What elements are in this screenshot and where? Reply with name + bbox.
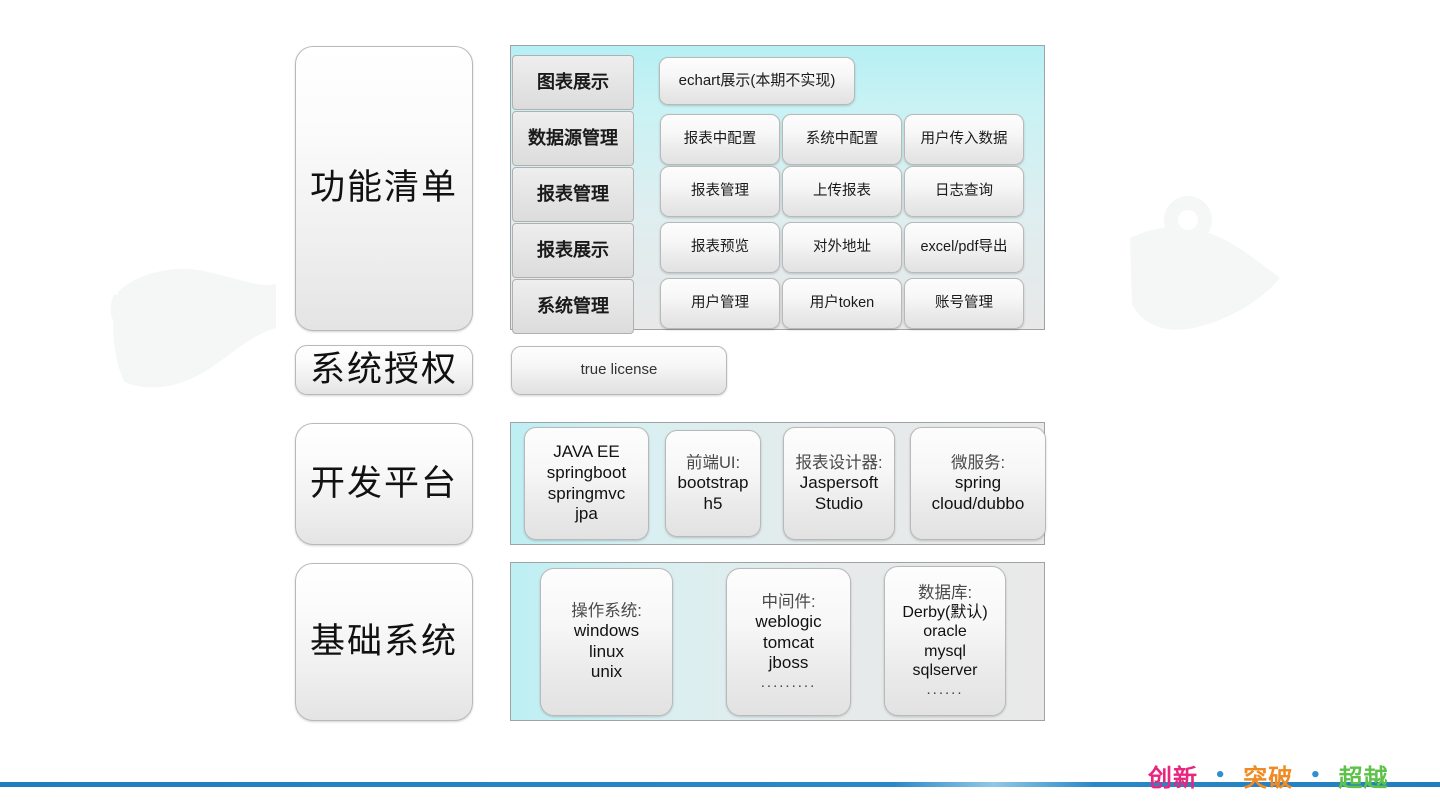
true-license-button[interactable]: true license [511,346,727,395]
dev-tile-designer-head: 报表设计器: [795,453,882,473]
cell-text: 日志查询 [935,183,993,201]
category-system-license-label: 系统授权 [310,349,458,392]
dev-tile-designer-line1: Jaspersoft [795,473,882,494]
row-label-text: 图表展示 [537,72,609,94]
base-tile-middleware[interactable]: 中间件: weblogic tomcat jboss ......... [726,568,851,716]
function-cell-account-manage[interactable]: 账号管理 [904,278,1024,329]
function-cell-log-query[interactable]: 日志查询 [904,166,1024,217]
footer-slogan: 创新 • 突破 • 超越 [1148,758,1388,793]
function-row-label-datasource[interactable]: 数据源管理 [512,111,634,166]
base-tile-mid-line3: jboss [755,653,821,674]
category-function-list-label: 功能清单 [310,167,458,210]
base-tile-mid-head: 中间件: [755,592,821,612]
function-row-label-reportview[interactable]: 报表展示 [512,223,634,278]
cell-text: 上传报表 [813,183,871,201]
row-label-text: 报表管理 [537,184,609,206]
background-watermark-left [108,232,298,412]
function-cell-upload-report[interactable]: 上传报表 [782,166,902,217]
function-cell-external-address[interactable]: 对外地址 [782,222,902,273]
function-cell-system-config[interactable]: 系统中配置 [782,114,902,165]
dev-tile-designer-line2: Studio [795,494,882,515]
base-tile-db-head: 数据库: [902,583,987,603]
category-dev-platform-label: 开发平台 [310,463,458,506]
function-cell-user-token[interactable]: 用户token [782,278,902,329]
cell-text: 对外地址 [813,239,871,257]
slogan-word-1: 创新 [1148,764,1198,792]
cell-text: 系统中配置 [806,131,879,149]
cell-text: 报表管理 [691,183,749,201]
base-tile-mid-line1: weblogic [755,612,821,633]
category-dev-platform: 开发平台 [295,423,473,545]
base-tile-db-line1: Derby(默认) [902,603,987,623]
base-tile-operating-system[interactable]: 操作系统: windows linux unix [540,568,673,716]
function-row-label-chart[interactable]: 图表展示 [512,55,634,110]
base-tile-db-dots: ...... [902,681,987,699]
dev-tile-micro-head: 微服务: [932,453,1025,473]
function-cell-echart[interactable]: echart展示(本期不实现) [659,57,855,105]
base-tile-os-line1: windows [571,621,642,642]
base-tile-mid-line2: tomcat [755,633,821,654]
background-watermark-right [1120,160,1320,345]
category-system-license: 系统授权 [295,345,473,395]
dev-tile-frontend-line1: bootstrap [678,473,749,494]
dev-tile-javaee-line3: jpa [547,504,626,525]
dev-tile-frontend-line2: h5 [678,494,749,515]
row-label-text: 数据源管理 [528,128,618,150]
cell-text: 用户传入数据 [921,131,1008,149]
dev-tile-microservice[interactable]: 微服务: spring cloud/dubbo [910,427,1046,540]
cell-text: 报表中配置 [684,131,757,149]
base-tile-db-line4: sqlserver [902,661,987,681]
dev-tile-micro-line1: spring [932,473,1025,494]
cell-text: 报表预览 [691,239,749,257]
base-tile-db-line3: mysql [902,642,987,662]
cell-text: 用户token [810,295,874,313]
function-row-label-sysmgmt[interactable]: 系统管理 [512,279,634,334]
dev-tile-report-designer[interactable]: 报表设计器: Jaspersoft Studio [783,427,895,540]
base-tile-mid-dots: ......... [755,674,821,692]
dev-tile-frontend-head: 前端UI: [678,453,749,473]
slogan-separator-1: • [1207,765,1234,786]
dev-tile-micro-line2: cloud/dubbo [932,494,1025,515]
slogan-word-3: 超越 [1338,764,1388,792]
row-label-text: 系统管理 [537,296,609,318]
function-row-label-reportmgmt[interactable]: 报表管理 [512,167,634,222]
base-tile-os-line3: unix [571,662,642,683]
cell-text: excel/pdf导出 [920,239,1007,257]
base-tile-os-head: 操作系统: [571,601,642,621]
function-cell-report-preview[interactable]: 报表预览 [660,222,780,273]
true-license-label: true license [581,361,658,379]
base-tile-db-line2: oracle [902,622,987,642]
base-tile-os-line2: linux [571,642,642,663]
dev-tile-javaee-head: JAVA EE [547,442,626,463]
cell-text: 账号管理 [935,295,993,313]
category-function-list: 功能清单 [295,46,473,331]
dev-tile-javaee-line1: springboot [547,463,626,484]
dev-tile-javaee-line2: springmvc [547,484,626,505]
function-cell-user-manage[interactable]: 用户管理 [660,278,780,329]
dev-tile-javaee[interactable]: JAVA EE springboot springmvc jpa [524,427,649,540]
function-cell-report-config[interactable]: 报表中配置 [660,114,780,165]
function-cell-excel-pdf-export[interactable]: excel/pdf导出 [904,222,1024,273]
function-cell-report-manage[interactable]: 报表管理 [660,166,780,217]
slogan-separator-2: • [1303,765,1330,786]
dev-tile-frontend-ui[interactable]: 前端UI: bootstrap h5 [665,430,761,537]
category-base-system: 基础系统 [295,563,473,721]
slogan-word-2: 突破 [1243,764,1293,792]
cell-text: 用户管理 [691,295,749,313]
category-base-system-label: 基础系统 [310,621,458,664]
function-cell-user-input-data[interactable]: 用户传入数据 [904,114,1024,165]
row-label-text: 报表展示 [537,240,609,262]
cell-text: echart展示(本期不实现) [679,72,836,90]
base-tile-database[interactable]: 数据库: Derby(默认) oracle mysql sqlserver ..… [884,566,1006,716]
